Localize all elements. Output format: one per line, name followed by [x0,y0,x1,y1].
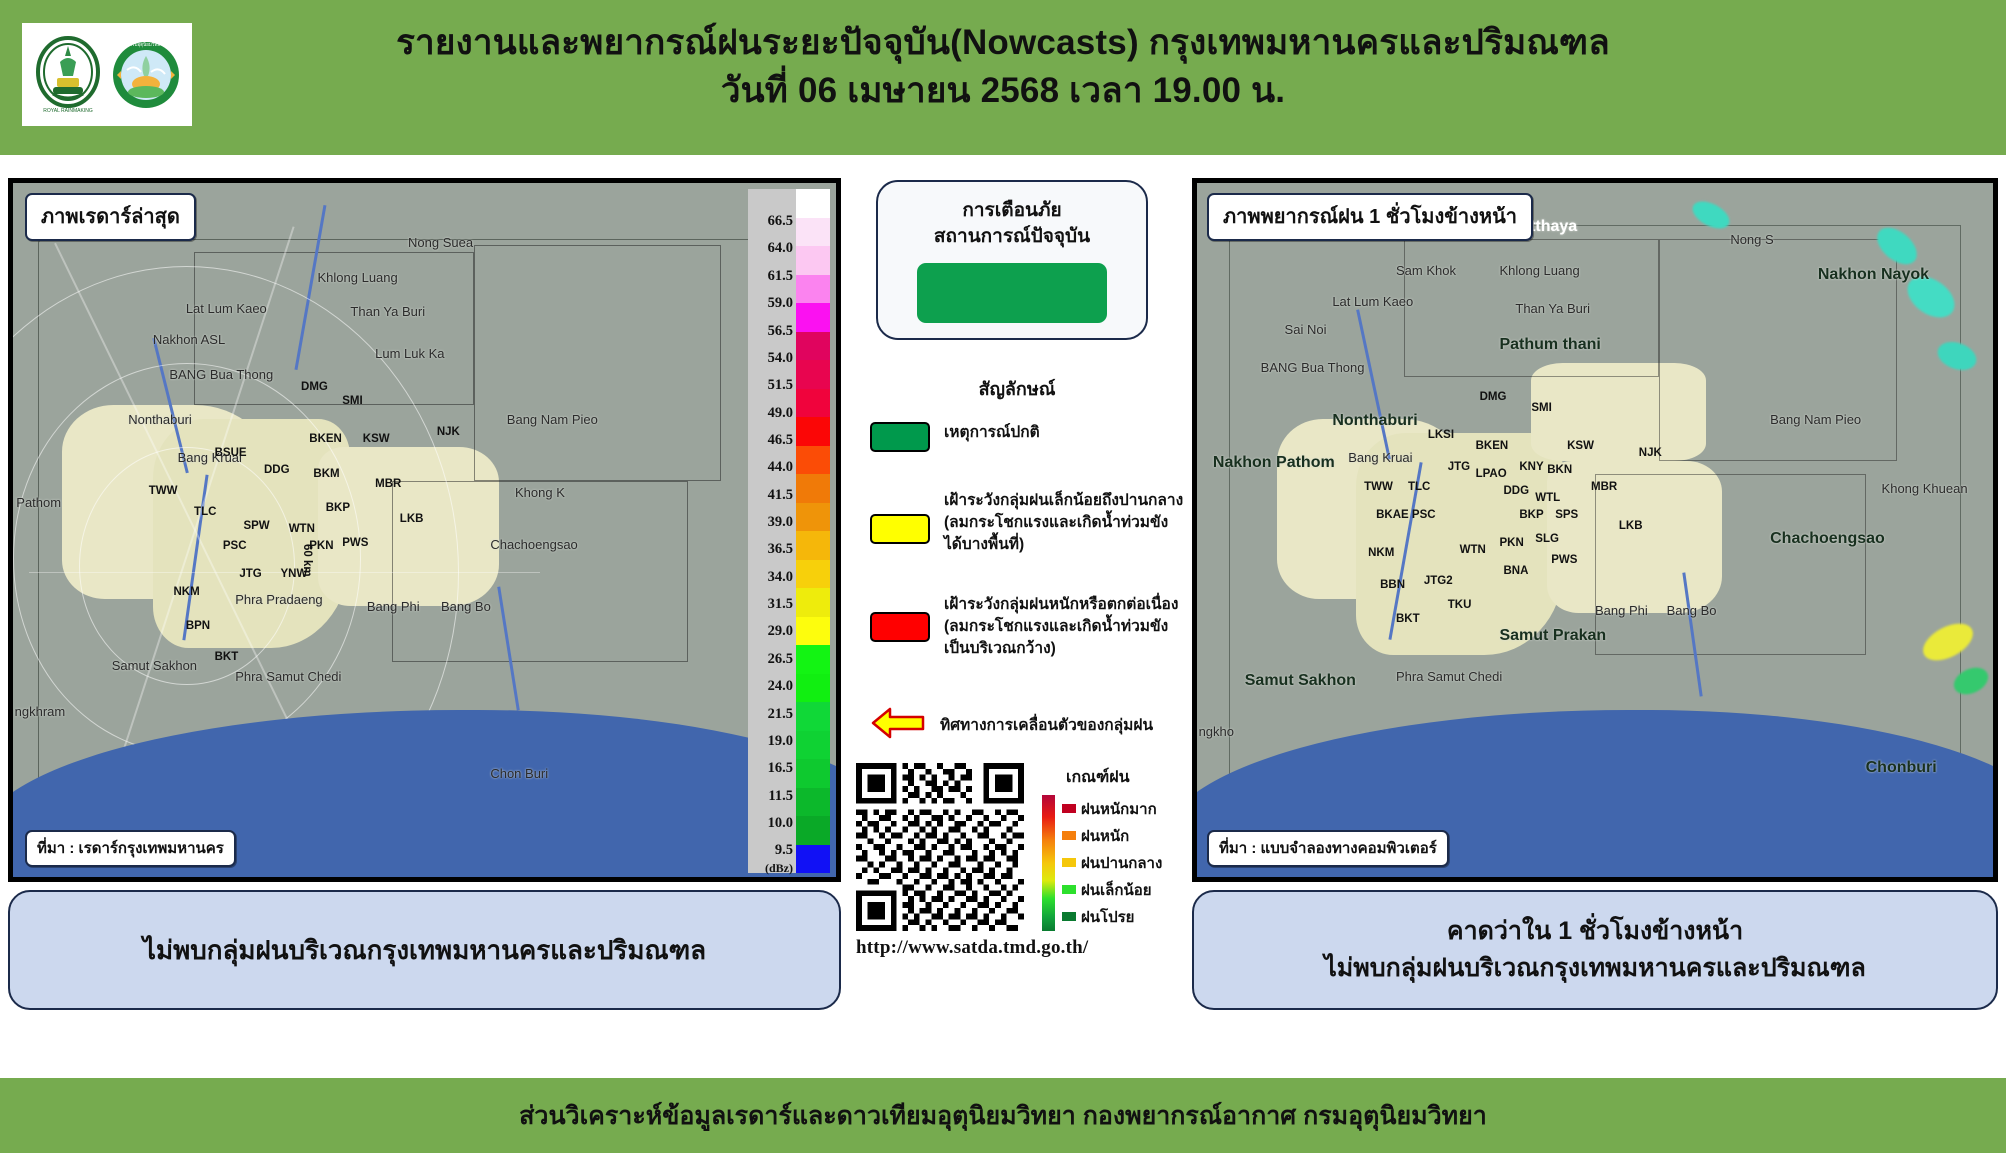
district-code: BKP [326,502,350,514]
forecast-message-line-1: คาดว่าใน 1 ชั่วโมงข้างหน้า [1324,913,1866,951]
rain-scale-label: ฝนหนักมาก [1081,797,1157,821]
district-code: MBR [1591,481,1617,493]
district-code: BKEN [1476,440,1509,452]
qr-code-icon[interactable] [856,763,1024,931]
colorbar-band [796,218,830,247]
colorbar-tick: 59.0 [768,295,793,312]
rain-intensity-scale: เกณฑ์ฝน ฝนหนักมากฝนหนักฝนปานกลางฝนเล็กน้… [1042,765,1192,931]
district-code: BKM [313,468,339,480]
colorbar-tick: 36.5 [768,541,793,558]
rain-scale-label: ฝนปานกลาง [1081,851,1162,875]
map-label: Samut Prakan [1499,627,1606,645]
district-code: NKM [1368,547,1394,559]
district-code: DMG [1480,391,1507,403]
map-label: Bang Kruai [1348,450,1412,465]
legend-column: การเตือนภัย สถานการณ์ปัจจุบัน สัญลักษณ์ … [848,178,1186,1058]
map-label: Chachoengsao [490,537,577,552]
alert-status-box[interactable]: การเตือนภัย สถานการณ์ปัจจุบัน [876,180,1148,340]
title-line-2: วันที่ 06 เมษายน 2568 เวลา 19.00 น. [0,70,2006,113]
district-code: TLC [194,506,216,518]
colorbar-band [796,303,830,332]
rain-scale-item: ฝนปานกลาง [1062,849,1162,876]
district-code: BBN [1380,579,1405,591]
district-code: JTG [1448,461,1470,473]
colorbar-tick: 46.5 [768,432,793,449]
colorbar-tick: 51.5 [768,377,793,394]
legend-item-heavy: เฝ้าระวังกลุ่มฝนหนักหรือตกต่อเนื่อง (ลมก… [870,594,1178,660]
district-code: WTN [1460,544,1486,556]
red-swatch-icon [870,612,930,642]
map-label: Khong Khuean [1882,481,1968,496]
map-label: Bang Bo [1667,603,1717,618]
left-arrow-icon [870,706,926,740]
rain-scale-item: ฝนโปรย [1062,903,1162,930]
colorbar-tick: 31.5 [768,596,793,613]
district-code: BKAE [1376,509,1409,521]
district-code: KNY [1519,461,1543,473]
yellow-swatch-icon [870,514,930,544]
alert-title: การเตือนภัย สถานการณ์ปัจจุบัน [878,198,1146,249]
district-code: NKM [173,586,199,598]
rain-scale-items: ฝนหนักมากฝนหนักฝนปานกลางฝนเล็กน้อยฝนโปรย [1062,795,1162,931]
district-code: SPS [1555,509,1578,521]
colorbar-band [796,189,830,218]
colorbar-tick: 66.5 [768,213,793,230]
colorbar-band [796,332,830,361]
map-label: Pathum thani [1499,336,1600,354]
map-label: Than Ya Buri [350,304,425,319]
district-code: TWW [149,485,178,497]
page-header: ROYAL RAINMAKING กรมอุตุนิยมวิทยา METEOR… [0,0,2006,155]
district-code: PSC [1412,509,1436,521]
district-code: BKT [215,651,239,663]
map-label: Bang Nam Pieo [507,412,598,427]
map-label: Nakhon Nayok [1818,266,1929,284]
colorbar-tick: 11.5 [768,788,793,805]
district-code: BKN [1547,464,1572,476]
rain-scale-title: เกณฑ์ฝน [1066,765,1192,790]
page-title: รายงานและพยากรณ์ฝนระยะปัจจุบัน(Nowcasts)… [0,22,2006,112]
rain-scale-color-dot [1062,858,1076,867]
footer-text: ส่วนวิเคราะห์ข้อมูลเรดาร์และดาวเทียมอุตุ… [519,1096,1487,1136]
alert-status-swatch [917,263,1107,323]
symbols-title: สัญลักษณ์ [848,374,1186,403]
rain-scale-item: ฝนเล็กน้อย [1062,876,1162,903]
map-label: Lat Lum Kaeo [186,301,267,316]
colorbar-band [796,446,830,475]
rain-scale-label: ฝนหนัก [1081,824,1129,848]
colorbar-band [796,845,830,874]
colorbar-band [796,788,830,817]
alert-title-line-2: สถานการณ์ปัจจุบัน [934,226,1090,247]
map-label: Sai Noi [1285,322,1327,337]
district-code: SMI [342,395,362,407]
map-label: Khlong Luang [1499,263,1579,278]
colorbar-tick: 61.5 [768,268,793,285]
district-code: JTG [239,568,261,580]
map-label: Lum Luk Ka [375,346,444,361]
map-label: Nonthaburi [128,412,192,427]
colorbar-band [796,759,830,788]
district-code: DMG [301,381,328,393]
district-code: SPW [243,520,269,532]
map-label: Bang Nam Pieo [1770,412,1861,427]
legend-label-normal: เหตุการณ์ปกติ [944,422,1040,444]
map-label: Than Ya Buri [1515,301,1590,316]
district-code: PWS [1551,554,1577,566]
colorbar-tick: 10.0 [768,815,793,832]
district-code: BKEN [309,433,342,445]
radar-reflectivity-colorbar: 66.564.061.559.056.554.051.549.046.544.0… [748,189,830,873]
colorbar-band [796,417,830,446]
district-code: WTL [1535,492,1560,504]
map-label: Chachoengsao [1770,530,1885,548]
district-code: TKU [1448,599,1472,611]
district-code: TWW [1364,481,1393,493]
map-label: Sam Khok [1396,263,1456,278]
district-code: JTG2 [1424,575,1453,587]
map-label: Chonburi [1866,759,1937,777]
colorbar-band [796,246,830,275]
map-label: Khong K [515,485,565,500]
colorbar-band [796,702,830,731]
map-label: ngkhram [15,704,66,719]
legend-label-movement: ทิศทางการเคลื่อนตัวของกลุ่มฝน [940,715,1153,737]
district-code: BPN [186,620,210,632]
district-code: SMI [1531,402,1551,414]
colorbar-band [796,275,830,304]
colorbar-tick-labels: 66.564.061.559.056.554.051.549.046.544.0… [748,189,796,873]
colorbar-band [796,560,830,589]
district-code: YNW [280,568,307,580]
legend-label-heavy: เฝ้าระวังกลุ่มฝนหนักหรือตกต่อเนื่อง (ลมก… [944,594,1178,660]
rain-scale-item: ฝนหนักมาก [1062,795,1162,822]
district-code: NJK [437,426,460,438]
colorbar-band [796,588,830,617]
website-url[interactable]: http://www.satda.tmd.go.th/ [856,937,1186,959]
colorbar-tick: 19.0 [768,733,793,750]
title-line-1: รายงานและพยากรณ์ฝนระยะปัจจุบัน(Nowcasts)… [0,22,2006,65]
district-code: BNA [1503,565,1528,577]
map-label: Nonthaburi [1332,412,1417,430]
district-code: DDG [264,464,290,476]
radar-range-ring [79,447,295,685]
colorbar-tick: 24.0 [768,678,793,695]
district-code: PWS [342,537,368,549]
map-label: ngkho [1199,724,1234,739]
map-label: Lat Lum Kaeo [1332,294,1413,309]
colorbar-band [796,731,830,760]
map-label: BANG Bua Thong [1261,360,1365,375]
district-code: NJK [1639,447,1662,459]
rain-scale-label: ฝนเล็กน้อย [1081,878,1152,902]
district-code: PKN [309,540,333,552]
colorbar-tick: 64.0 [768,240,793,257]
district-code: WTN [289,523,315,535]
forecast-summary-message: คาดว่าใน 1 ชั่วโมงข้างหน้า ไม่พบกลุ่มฝนบ… [1192,890,1998,1010]
colorbar-band [796,816,830,845]
radar-source-label: ที่มา : เรดาร์กรุงเทพมหานคร [25,830,236,867]
legend-item-normal: เหตุการณ์ปกติ [870,422,1040,452]
district-code: BKT [1396,613,1420,625]
district-code: PKN [1499,537,1523,549]
map-label: Phra Samut Chedi [235,669,341,684]
district-code: DDG [1503,485,1529,497]
colorbar-tick: 9.5 [775,842,793,859]
district-code: BSUE [215,447,247,459]
rain-scale-gradient-bar [1042,795,1055,931]
colorbar-band [796,503,830,532]
map-label: BANG Bua Thong [169,367,273,382]
green-swatch-icon [870,422,930,452]
forecast-message-line-2: ไม่พบกลุ่มฝนบริเวณกรุงเทพมหานครและปริมณฑ… [1324,950,1866,988]
district-code: MBR [375,478,401,490]
district-code: BKP [1519,509,1543,521]
map-label: Phra Samut Chedi [1396,669,1502,684]
map-label: Samut Sakhon [112,658,197,673]
colorbar-tick: 54.0 [768,350,793,367]
colorbar-tick: 44.0 [768,459,793,476]
map-label: Nakhon ASL [153,332,225,347]
map-label: Samut Sakhon [1245,672,1356,690]
colorbar-band [796,674,830,703]
district-code: SLG [1535,533,1559,545]
colorbar-tick: 49.0 [768,405,793,422]
radar-map-panel[interactable]: 60 km Nong Suea Khlong Luang Lat Lum Kae… [8,178,841,882]
rain-scale-label: ฝนโปรย [1081,905,1134,929]
colorbar-unit: (dBz) [765,861,793,876]
map-label: Nong Suea [408,235,473,250]
legend-item-movement: ทิศทางการเคลื่อนตัวของกลุ่มฝน [870,706,1153,740]
forecast-panel-tag: ภาพพยากรณ์ฝน 1 ชั่วโมงข้างหน้า [1207,193,1533,241]
district-code: LPAO [1476,468,1507,480]
colorbar-tick: 16.5 [768,760,793,777]
colorbar-tick: 39.0 [768,514,793,531]
colorbar-band [796,617,830,646]
radar-panel-tag: ภาพเรดาร์ล่าสุด [25,193,196,241]
rain-scale-color-dot [1062,804,1076,813]
district-code: KSW [363,433,390,445]
district-code: PSC [223,540,247,552]
rain-scale-item: ฝนหนัก [1062,822,1162,849]
colorbar-tick: 56.5 [768,323,793,340]
district-code: LKB [400,513,424,525]
forecast-source-label: ที่มา : แบบจำลองทางคอมพิวเตอร์ [1207,830,1449,867]
colorbar-band [796,531,830,560]
colorbar-band [796,360,830,389]
alert-title-line-1: การเตือนภัย [962,200,1061,221]
rain-scale-color-dot [1062,912,1076,921]
colorbar-band [796,474,830,503]
qr-section: เกณฑ์ฝน ฝนหนักมากฝนหนักฝนปานกลางฝนเล็กน้… [856,763,1186,959]
legend-item-light-moderate: เฝ้าระวังกลุ่มฝนเล็กน้อยถึงปานกลาง (ลมกร… [870,490,1183,556]
map-label: Phra Pradaeng [235,592,322,607]
colorbar-band [796,389,830,418]
district-code: LKB [1619,520,1643,532]
district-code: KSW [1567,440,1594,452]
map-label: Pathom [16,495,61,510]
map-label: Nakhon Pathom [1213,454,1335,472]
colorbar-gradient-strip [796,189,830,873]
district-code: TLC [1408,481,1430,493]
radar-summary-message: ไม่พบกลุ่มฝนบริเวณกรุงเทพมหานครและปริมณฑ… [8,890,841,1010]
colorbar-band [796,645,830,674]
map-label: Bang Phi [367,599,420,614]
map-label: Bang Phi [1595,603,1648,618]
map-label: Khlong Luang [318,270,398,285]
rain-scale-color-dot [1062,885,1076,894]
rain-scale-color-dot [1062,831,1076,840]
district-code: LKSI [1428,429,1454,441]
legend-label-light-moderate: เฝ้าระวังกลุ่มฝนเล็กน้อยถึงปานกลาง (ลมกร… [944,490,1183,556]
map-label: Bang Bo [441,599,491,614]
forecast-map-panel[interactable]: Suphan Buri Phra Nakhon Sri Ayutthaya No… [1192,178,1998,882]
colorbar-tick: 21.5 [768,706,793,723]
colorbar-tick: 29.0 [768,623,793,640]
district-boundary [474,245,721,481]
map-label: Chon Buri [490,766,548,781]
colorbar-tick: 34.0 [768,569,793,586]
colorbar-tick: 26.5 [768,651,793,668]
colorbar-tick: 41.5 [768,487,793,504]
page-footer: ส่วนวิเคราะห์ข้อมูลเรดาร์และดาวเทียมอุตุ… [0,1078,2006,1153]
map-label: Nong S [1730,232,1773,247]
district-boundary [1595,474,1866,654]
